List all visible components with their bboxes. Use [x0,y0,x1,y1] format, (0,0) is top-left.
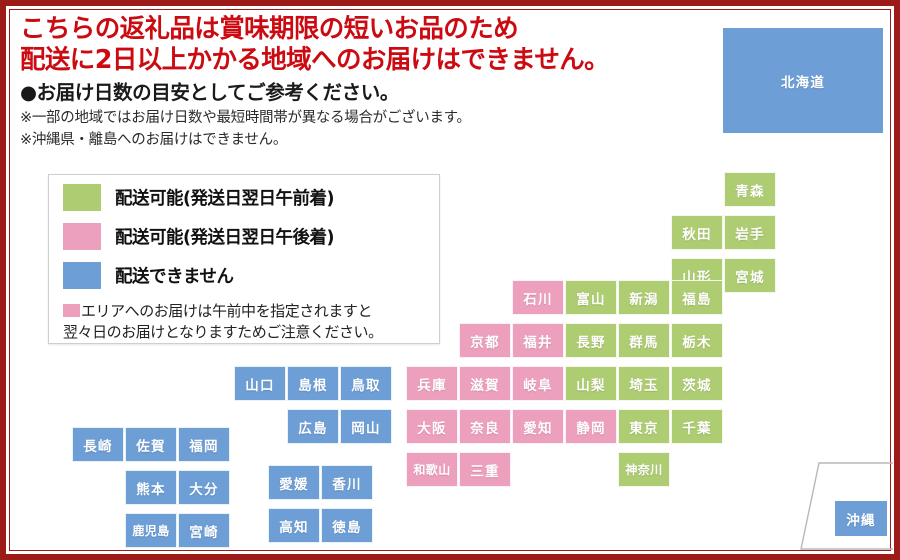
prefecture-tile[interactable]: 島根 [287,366,339,401]
prefecture-tile[interactable]: 福岡 [178,427,230,462]
prefecture-tile[interactable]: 栃木 [671,323,723,358]
prefecture-tile[interactable]: 岐阜 [512,366,564,401]
prefecture-tile[interactable]: 群馬 [618,323,670,358]
prefecture-tile[interactable]: 香川 [321,465,373,500]
prefecture-tile[interactable]: 静岡 [565,409,617,444]
prefecture-tile[interactable]: 高知 [268,508,320,543]
prefecture-tile[interactable]: 鳥取 [340,366,392,401]
legend-swatch-blue [63,262,101,289]
prefecture-tile[interactable]: 石川 [512,280,564,315]
legend-inline-swatch-pink [63,304,80,317]
prefecture-tile[interactable]: 山口 [234,366,286,401]
prefecture-tile-okinawa[interactable]: 沖縄 [835,501,887,536]
legend-footnote-line-2: 翌々日のお届けとなりますためご注意ください。 [63,323,383,341]
prefecture-tile[interactable]: 福井 [512,323,564,358]
legend-swatch-green [63,184,101,211]
prefecture-tile[interactable]: 東京 [618,409,670,444]
prefecture-tile[interactable]: 長野 [565,323,617,358]
prefecture-tile[interactable]: 岩手 [724,215,776,250]
prefecture-tile[interactable]: 長崎 [72,427,124,462]
legend-swatch-pink [63,223,101,250]
legend-item-green: 配送可能(発送日翌日午前着) [63,181,439,214]
subheadline: ●お届け日数の目安としてご参考ください。 [20,79,720,107]
prefecture-tile[interactable]: 岡山 [340,409,392,444]
legend-footnote: エリアへのお届けは午前中を指定されますと 翌々日のお届けとなりますためご注意くだ… [49,301,439,343]
prefecture-tile[interactable]: 奈良 [459,409,511,444]
delivery-area-map-panel: こちらの返礼品は賞味期限の短いお品のため 配送に2日以上かかる地域へのお届けはで… [0,0,900,560]
prefecture-tile[interactable]: 京都 [459,323,511,358]
prefecture-tile[interactable]: 埼玉 [618,366,670,401]
header-block: こちらの返礼品は賞味期限の短いお品のため 配送に2日以上かかる地域へのお届けはで… [20,14,720,151]
prefecture-tile[interactable]: 佐賀 [125,427,177,462]
legend-box: 配送可能(発送日翌日午前着) 配送可能(発送日翌日午後着) 配送できません エリ… [48,174,440,344]
prefecture-tile[interactable]: 滋賀 [459,366,511,401]
legend-label-blue: 配送できません [115,263,233,288]
prefecture-tile[interactable]: 和歌山 [406,452,458,487]
legend-footnote-line-1: エリアへのお届けは午前中を指定されますと [81,302,372,320]
legend-item-pink: 配送可能(発送日翌日午後着) [63,220,439,253]
prefecture-tile[interactable]: 宮崎 [178,513,230,548]
prefecture-tile[interactable]: 徳島 [321,508,373,543]
headline-line-1: こちらの返礼品は賞味期限の短いお品のため [20,14,720,45]
prefecture-tile[interactable]: 新潟 [618,280,670,315]
legend-item-blue: 配送できません [63,259,439,292]
prefecture-tile[interactable]: 鹿児島 [125,513,177,548]
legend-label-green: 配送可能(発送日翌日午前着) [115,185,334,210]
prefecture-tile[interactable]: 三重 [459,452,511,487]
legend-label-pink: 配送可能(発送日翌日午後着) [115,224,334,249]
prefecture-tile[interactable]: 大阪 [406,409,458,444]
prefecture-tile-hokkaido[interactable]: 北海道 [723,28,883,133]
prefecture-tile[interactable]: 千葉 [671,409,723,444]
prefecture-tile[interactable]: 秋田 [671,215,723,250]
prefecture-tile[interactable]: 神奈川 [618,452,670,487]
header-note-2: ※沖縄県・離島へのお届けはできません。 [20,129,720,151]
prefecture-tile[interactable]: 富山 [565,280,617,315]
header-note-1: ※一部の地域ではお届け日数や最短時間帯が異なる場合がございます。 [20,107,720,129]
prefecture-tile[interactable]: 兵庫 [406,366,458,401]
headline-line-2: 配送に2日以上かかる地域へのお届けはできません。 [20,45,720,76]
prefecture-tile[interactable]: 広島 [287,409,339,444]
prefecture-tile[interactable]: 愛知 [512,409,564,444]
prefecture-tile[interactable]: 茨城 [671,366,723,401]
prefecture-tile[interactable]: 宮城 [724,258,776,293]
prefecture-tile[interactable]: 熊本 [125,470,177,505]
prefecture-tile[interactable]: 山梨 [565,366,617,401]
prefecture-tile[interactable]: 青森 [724,172,776,207]
prefecture-tile[interactable]: 大分 [178,470,230,505]
prefecture-tile[interactable]: 福島 [671,280,723,315]
prefecture-tile[interactable]: 愛媛 [268,465,320,500]
